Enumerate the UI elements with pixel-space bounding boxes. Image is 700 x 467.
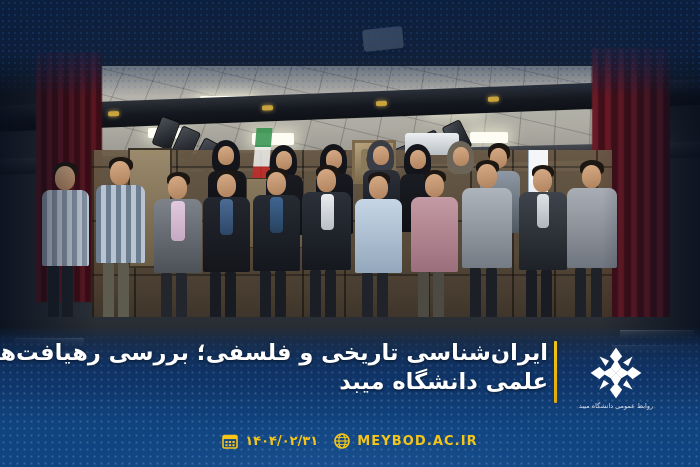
beam-light-b bbox=[262, 105, 273, 110]
event-date: ۱۴۰۴/۰۲/۳۱ bbox=[245, 434, 318, 449]
university-star-emblem-icon bbox=[588, 345, 644, 401]
headline-line-2: علمی دانشگاه میبد bbox=[28, 368, 548, 397]
beam-light-a bbox=[108, 111, 119, 116]
beam-light-d bbox=[488, 96, 499, 101]
website-item[interactable]: MEYBOD.AC.IR bbox=[334, 433, 478, 449]
ceiling-light-4 bbox=[470, 132, 508, 143]
headline: ایران‌شناسی تاریخی و فلسفی؛ بررسی رهیافت… bbox=[28, 339, 548, 397]
globe-icon bbox=[334, 433, 350, 449]
website-url[interactable]: MEYBOD.AC.IR bbox=[357, 434, 478, 449]
news-banner-poster: ایران‌شناسی تاریخی و فلسفی؛ بررسی رهیافت… bbox=[0, 0, 700, 467]
ceiling-projector bbox=[362, 26, 404, 52]
public-relations-logo: روابط عمومی دانشگاه میبد bbox=[564, 335, 668, 419]
date-item: ۱۴۰۴/۰۲/۳۱ bbox=[222, 433, 318, 449]
title-banner: ایران‌شناسی تاریخی و فلسفی؛ بررسی رهیافت… bbox=[0, 327, 700, 467]
beam-light-c bbox=[376, 101, 387, 106]
calendar-icon bbox=[222, 433, 238, 449]
headline-line-1: ایران‌شناسی تاریخی و فلسفی؛ بررسی رهیافت… bbox=[28, 339, 548, 368]
logo-caption: روابط عمومی دانشگاه میبد bbox=[579, 402, 653, 410]
meta-row: ۱۴۰۴/۰۲/۳۱ MEYBOD.AC.IR bbox=[0, 433, 700, 449]
gold-divider bbox=[554, 341, 557, 403]
